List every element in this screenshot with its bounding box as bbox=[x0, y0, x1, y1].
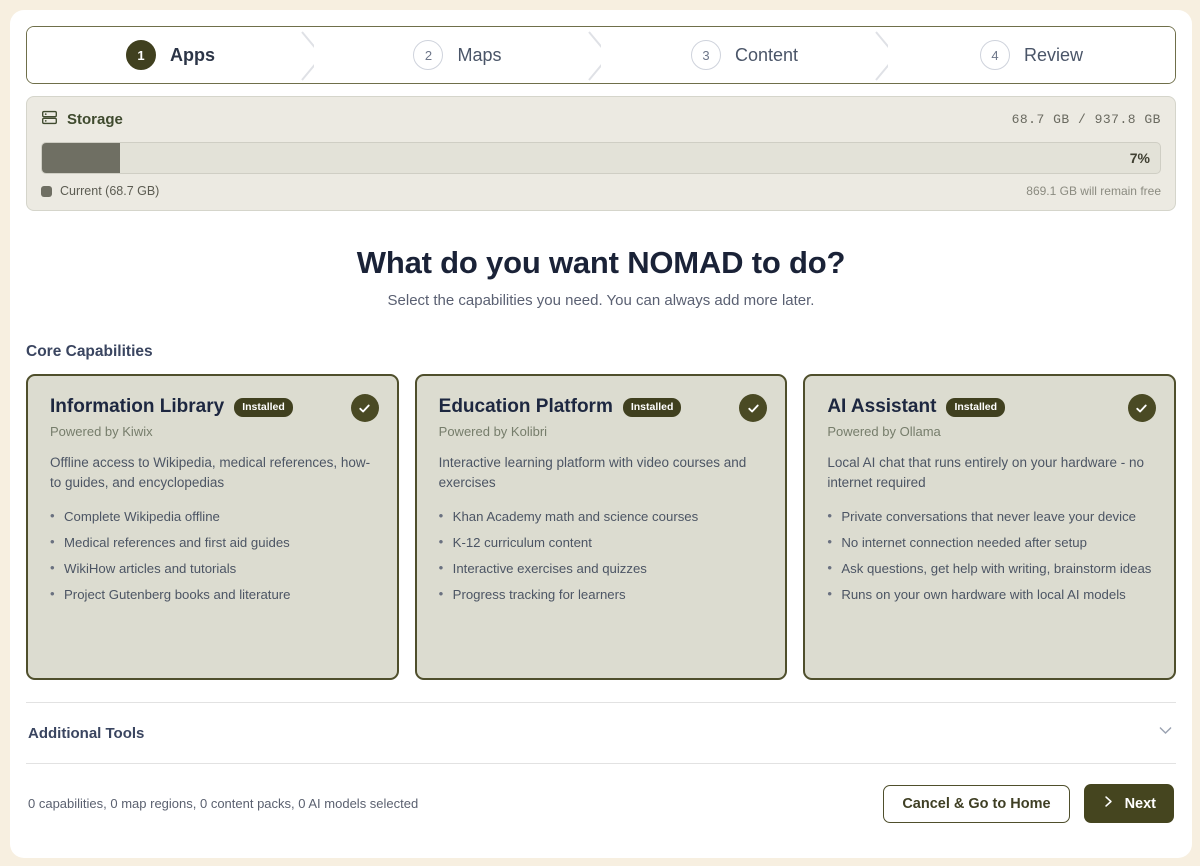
step-label-content: Content bbox=[735, 45, 798, 66]
storage-progress-bar: 7% bbox=[41, 142, 1161, 174]
capability-card-ai-assistant[interactable]: AI Assistant Installed Powered by Ollama… bbox=[803, 374, 1176, 680]
card-subtitle: Powered by Kolibri bbox=[439, 424, 766, 439]
additional-tools-label: Additional Tools bbox=[28, 725, 144, 742]
storage-legend: Current (68.7 GB) bbox=[41, 184, 159, 198]
list-item: Khan Academy math and science courses bbox=[439, 507, 766, 526]
selected-check-icon[interactable] bbox=[351, 394, 379, 422]
selected-check-icon[interactable] bbox=[1128, 394, 1156, 422]
step-apps[interactable]: 1 Apps bbox=[27, 27, 314, 83]
card-description: Offline access to Wikipedia, medical ref… bbox=[50, 453, 377, 493]
step-label-review: Review bbox=[1024, 45, 1083, 66]
card-description: Interactive learning platform with video… bbox=[439, 453, 766, 493]
storage-title-group: Storage bbox=[41, 109, 123, 130]
legend-color-swatch bbox=[41, 186, 52, 197]
list-item: Ask questions, get help with writing, br… bbox=[827, 559, 1154, 578]
card-subtitle: Powered by Ollama bbox=[827, 424, 1154, 439]
card-feature-list: Private conversations that never leave y… bbox=[827, 507, 1154, 605]
footer-actions: Cancel & Go to Home Next bbox=[883, 784, 1174, 823]
list-item: Complete Wikipedia offline bbox=[50, 507, 377, 526]
list-item: Runs on your own hardware with local AI … bbox=[827, 585, 1154, 604]
step-number-1: 1 bbox=[126, 40, 156, 70]
card-header: AI Assistant Installed bbox=[827, 396, 1154, 418]
selection-summary: 0 capabilities, 0 map regions, 0 content… bbox=[28, 796, 418, 811]
card-title: AI Assistant bbox=[827, 396, 936, 418]
card-description: Local AI chat that runs entirely on your… bbox=[827, 453, 1154, 493]
list-item: Private conversations that never leave y… bbox=[827, 507, 1154, 526]
page-subtitle: Select the capabilities you need. You ca… bbox=[26, 292, 1176, 309]
capability-card-information-library[interactable]: Information Library Installed Powered by… bbox=[26, 374, 399, 680]
legend-label: Current (68.7 GB) bbox=[60, 184, 159, 198]
step-label-apps: Apps bbox=[170, 45, 215, 66]
page-title: What do you want NOMAD to do? bbox=[26, 245, 1176, 281]
card-title: Information Library bbox=[50, 396, 224, 418]
step-review[interactable]: 4 Review bbox=[888, 27, 1175, 83]
step-number-2: 2 bbox=[413, 40, 443, 70]
list-item: Project Gutenberg books and literature bbox=[50, 585, 377, 604]
storage-capacity: 68.7 GB / 937.8 GB bbox=[1012, 112, 1161, 127]
step-maps[interactable]: 2 Maps bbox=[314, 27, 601, 83]
list-item: Progress tracking for learners bbox=[439, 585, 766, 604]
storage-drive-icon bbox=[41, 109, 58, 130]
storage-label: Storage bbox=[67, 111, 123, 128]
list-item: No internet connection needed after setu… bbox=[827, 533, 1154, 552]
storage-remaining-label: 869.1 GB will remain free bbox=[1026, 184, 1161, 198]
storage-percent-label: 7% bbox=[1130, 150, 1150, 166]
core-capabilities-heading: Core Capabilities bbox=[26, 343, 1176, 361]
card-feature-list: Complete Wikipedia offline Medical refer… bbox=[50, 507, 377, 605]
chevron-down-icon[interactable] bbox=[1157, 722, 1174, 744]
card-header: Education Platform Installed bbox=[439, 396, 766, 418]
capability-card-grid: Information Library Installed Powered by… bbox=[26, 374, 1176, 680]
card-subtitle: Powered by Kiwix bbox=[50, 424, 377, 439]
additional-tools-accordion[interactable]: Additional Tools bbox=[26, 703, 1176, 764]
wizard-stepper: 1 Apps 2 Maps 3 Content 4 Review bbox=[26, 26, 1176, 84]
list-item: WikiHow articles and tutorials bbox=[50, 559, 377, 578]
installed-badge: Installed bbox=[234, 398, 293, 417]
chevron-right-icon bbox=[1102, 795, 1115, 812]
setup-wizard-window: 1 Apps 2 Maps 3 Content 4 Review bbox=[10, 10, 1192, 858]
step-number-4: 4 bbox=[980, 40, 1010, 70]
installed-badge: Installed bbox=[623, 398, 682, 417]
hero-section: What do you want NOMAD to do? Select the… bbox=[26, 245, 1176, 309]
wizard-footer: 0 capabilities, 0 map regions, 0 content… bbox=[26, 764, 1176, 823]
storage-header: Storage 68.7 GB / 937.8 GB bbox=[41, 109, 1161, 130]
storage-panel: Storage 68.7 GB / 937.8 GB 7% Current (6… bbox=[26, 96, 1176, 211]
storage-footer: Current (68.7 GB) 869.1 GB will remain f… bbox=[41, 184, 1161, 198]
capability-card-education-platform[interactable]: Education Platform Installed Powered by … bbox=[415, 374, 788, 680]
card-title: Education Platform bbox=[439, 396, 613, 418]
list-item: K-12 curriculum content bbox=[439, 533, 766, 552]
card-feature-list: Khan Academy math and science courses K-… bbox=[439, 507, 766, 605]
next-button-label: Next bbox=[1125, 796, 1156, 812]
installed-badge: Installed bbox=[946, 398, 1005, 417]
storage-progress-fill bbox=[42, 143, 120, 173]
step-content[interactable]: 3 Content bbox=[601, 27, 888, 83]
next-button[interactable]: Next bbox=[1084, 784, 1174, 823]
step-label-maps: Maps bbox=[457, 45, 501, 66]
cancel-button[interactable]: Cancel & Go to Home bbox=[883, 785, 1069, 823]
card-header: Information Library Installed bbox=[50, 396, 377, 418]
step-number-3: 3 bbox=[691, 40, 721, 70]
list-item: Medical references and first aid guides bbox=[50, 533, 377, 552]
list-item: Interactive exercises and quizzes bbox=[439, 559, 766, 578]
